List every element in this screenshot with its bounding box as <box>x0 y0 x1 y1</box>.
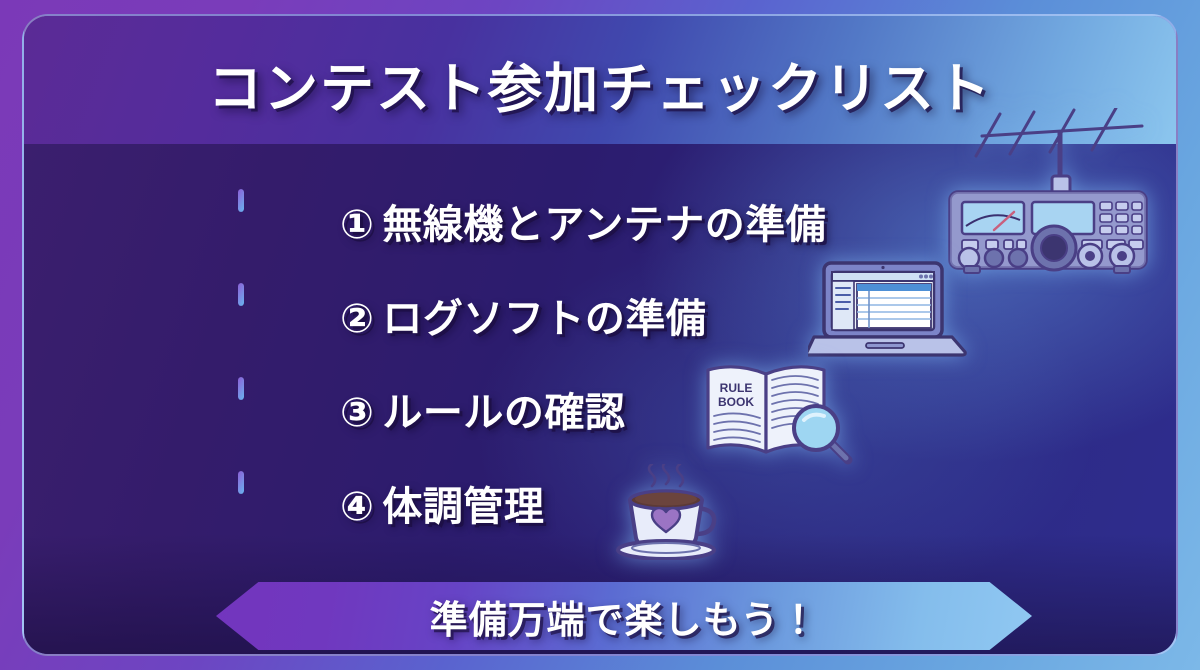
checklist-item-1-text: ①無線機とアンテナの準備 <box>340 192 826 250</box>
item-number-1: ① <box>340 202 374 248</box>
bottom-banner: 準備万端で楽しもう！ <box>216 582 1032 650</box>
page-title: コンテスト参加チェックリスト <box>24 44 1176 123</box>
poster-canvas: コンテスト参加チェックリスト <box>0 0 1200 670</box>
checklist-item-2[interactable]: ②ログソフトの準備 <box>238 268 1018 362</box>
item-number-4: ④ <box>340 484 374 530</box>
checklist-item-4-text: ④体調管理 <box>340 474 544 532</box>
checkbox-1[interactable] <box>238 192 308 250</box>
checklist-item-3[interactable]: ③ルールの確認 <box>238 362 1018 456</box>
item-label-3: ルールの確認 <box>382 391 625 435</box>
checkbox-2[interactable] <box>238 286 308 344</box>
checklist-item-2-text: ②ログソフトの準備 <box>340 286 706 344</box>
item-number-3: ③ <box>340 390 374 436</box>
checkbox-4[interactable] <box>238 474 308 532</box>
checklist-item-4[interactable]: ④体調管理 <box>238 456 1018 550</box>
poster-card: コンテスト参加チェックリスト <box>22 14 1178 656</box>
bottom-banner-text: 準備万端で楽しもう！ <box>430 589 819 644</box>
item-label-4: 体調管理 <box>382 485 544 529</box>
checklist-item-1[interactable]: ①無線機とアンテナの準備 <box>238 174 1018 268</box>
item-label-2: ログソフトの準備 <box>382 297 706 341</box>
item-number-2: ② <box>340 296 374 342</box>
checklist: ①無線機とアンテナの準備 ②ログソフトの準備 ③ルールの確認 <box>238 174 1018 550</box>
item-label-1: 無線機とアンテナの準備 <box>382 203 826 247</box>
checkbox-3[interactable] <box>238 380 308 438</box>
checklist-item-3-text: ③ルールの確認 <box>340 380 625 438</box>
